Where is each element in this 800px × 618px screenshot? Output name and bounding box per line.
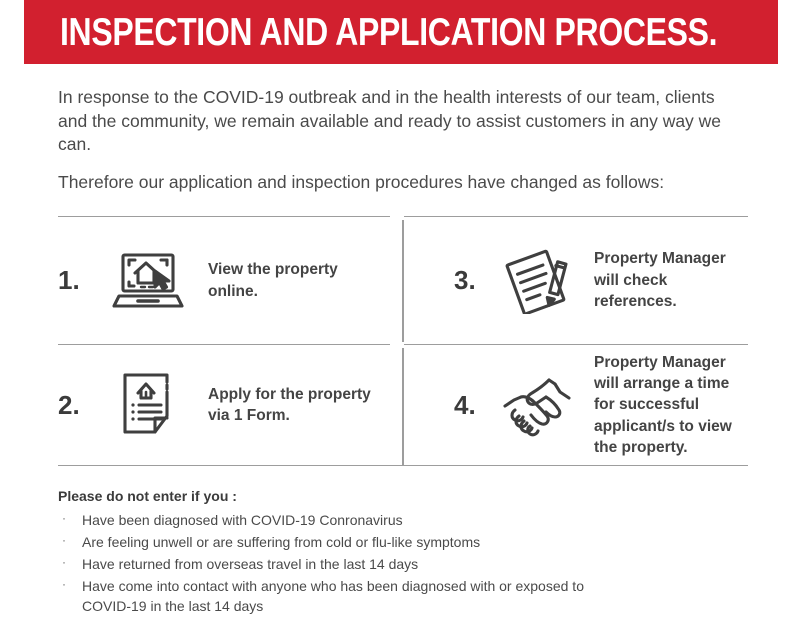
step-2-label: Apply for the property via 1 Form. xyxy=(194,384,374,427)
list-item-label: Have been diagnosed with COVID-19 Conron… xyxy=(82,512,403,528)
list-item-label: Are feeling unwell or are suffering from… xyxy=(82,534,480,550)
step-2-number: 2. xyxy=(58,390,102,421)
list-item: · Have come into contact with anyone who… xyxy=(58,577,602,617)
list-item-label: Have come into contact with anyone who h… xyxy=(82,578,584,614)
notice-bullet-list: · Have been diagnosed with COVID-19 Conr… xyxy=(58,511,758,616)
header-banner: INSPECTION AND APPLICATION PROCESS. xyxy=(24,0,778,64)
step-3-number: 3. xyxy=(454,265,494,296)
process-step-2: 2. Apply f xyxy=(58,344,402,466)
step-1-label: View the property online. xyxy=(194,259,374,302)
do-not-enter-notice: Please do not enter if you : · Have been… xyxy=(58,488,758,618)
list-item-label: Have returned from overseas travel in th… xyxy=(82,556,418,572)
list-item: · Have been diagnosed with COVID-19 Conr… xyxy=(58,511,602,531)
step-1-number: 1. xyxy=(58,265,102,296)
process-steps-grid: 1. View th xyxy=(58,216,748,466)
intro-paragraph-2: Therefore our application and inspection… xyxy=(58,171,748,195)
step-4-label: Property Manager will arrange a time for… xyxy=(580,352,748,459)
handshake-icon xyxy=(494,370,580,440)
process-step-1: 1. View th xyxy=(58,216,402,344)
step-3-label: Property Manager will check references. xyxy=(580,248,748,312)
notice-title: Please do not enter if you : xyxy=(58,488,758,504)
document-house-form-icon xyxy=(102,370,194,440)
bullet-icon: · xyxy=(62,554,66,571)
page-title: INSPECTION AND APPLICATION PROCESS. xyxy=(60,13,717,52)
paper-pen-icon xyxy=(494,248,580,314)
intro-section: In response to the COVID-19 outbreak and… xyxy=(58,86,748,195)
process-step-3: 3. Property Manag xyxy=(402,216,748,344)
list-item: · Are feeling unwell or are suffering fr… xyxy=(58,533,602,553)
list-item: · Have returned from overseas travel in … xyxy=(58,555,602,575)
bullet-icon: · xyxy=(62,510,66,527)
step-4-number: 4. xyxy=(454,390,494,421)
bullet-icon: · xyxy=(62,576,66,593)
intro-paragraph-1: In response to the COVID-19 outbreak and… xyxy=(58,86,748,157)
bullet-icon: · xyxy=(62,532,66,549)
process-step-4: 4. Property Manager will arr xyxy=(402,344,748,466)
laptop-house-cursor-icon xyxy=(102,251,194,311)
